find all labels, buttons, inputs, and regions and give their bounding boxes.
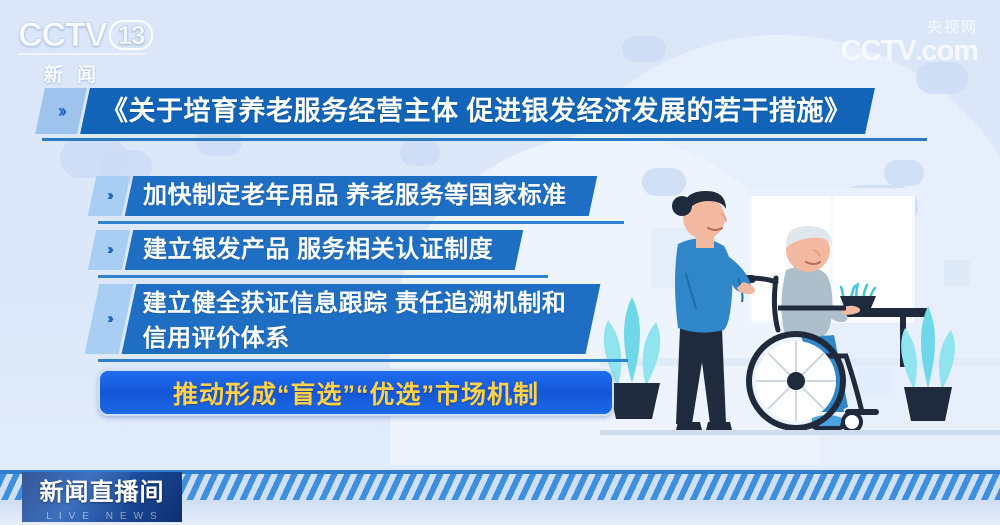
- highlighted-measure-label: 推动形成“盲选”“优选”市场机制: [173, 375, 539, 411]
- chevron-right-icon: ››: [88, 230, 131, 270]
- highlighted-measure[interactable]: 推动形成“盲选”“优选”市场机制: [98, 369, 614, 416]
- cloud-icon: [622, 36, 666, 62]
- broadcast-frame: CCTV13 新闻 央视网 CCTV.com ›› 《关于培育养老服务经营主体 …: [0, 0, 1000, 525]
- item-label-line1: 建立健全获证信息跟踪 责任追溯机制和: [143, 286, 567, 321]
- item-label: 加快制定老年用品 养老服务等国家标准: [143, 176, 567, 216]
- item-underline: [98, 275, 548, 278]
- item-bar: 加快制定老年用品 养老服务等国家标准: [125, 176, 597, 216]
- list-item[interactable]: ›› 加快制定老年用品 养老服务等国家标准: [92, 176, 593, 216]
- cctv-logo-subtitle: 新闻: [18, 60, 168, 87]
- cctv-com-watermark: 央视网 CCTV.com: [841, 20, 978, 66]
- item-bar: 建立银发产品 服务相关认证制度: [125, 230, 524, 270]
- chevron-right-icon: ››: [35, 88, 87, 134]
- program-title-en: LIVE NEWS: [22, 511, 182, 522]
- item-label: 建立银发产品 服务相关认证制度: [143, 230, 493, 270]
- measures-list: ›› 加快制定老年用品 养老服务等国家标准 ›› 建立银发产品 服务相关认证制度…: [92, 176, 593, 363]
- cctv-channel-number: 13: [109, 20, 154, 50]
- elderly-care-illustration: [600, 178, 1000, 478]
- item-label-line2: 信用评价体系: [143, 321, 567, 356]
- item-marker: ››: [107, 230, 111, 270]
- list-item[interactable]: ›› 建立银发产品 服务相关认证制度: [92, 230, 593, 270]
- cctv13-channel-logo: CCTV13 新闻: [18, 18, 168, 84]
- headline-marker: ››: [58, 88, 64, 134]
- watermark-suffix-text: com: [921, 35, 978, 67]
- item-marker: ››: [107, 176, 111, 216]
- item-bar: 建立健全获证信息跟踪 责任追溯机制和 信用评价体系: [122, 284, 601, 354]
- headline-banner: ›› 《关于培育养老服务经营主体 促进银发经济发展的若干措施》: [40, 88, 870, 134]
- headline-underline: [42, 138, 927, 141]
- page-title: 《关于培育养老服务经营主体 促进银发经济发展的若干措施》: [101, 88, 852, 134]
- list-item[interactable]: ›› 建立健全获证信息跟踪 责任追溯机制和 信用评价体系: [92, 284, 593, 354]
- headline-bar: 《关于培育养老服务经营主体 促进银发经济发展的若干措施》: [80, 88, 874, 134]
- watermark-main-text: CCTV: [841, 35, 916, 67]
- item-underline: [98, 221, 624, 224]
- bottom-bar: 新闻直播间 LIVE NEWS: [0, 470, 1000, 525]
- item-marker: ››: [107, 284, 111, 354]
- cloud-icon: [400, 140, 440, 166]
- chevron-right-icon: ››: [88, 176, 131, 216]
- item-underline: [98, 359, 628, 362]
- program-title-cn: 新闻直播间: [22, 481, 182, 505]
- cctv-logo-text: CCTV: [18, 16, 107, 54]
- watermark-cn-text: 央视网: [841, 20, 978, 35]
- live-news-badge: 新闻直播间 LIVE NEWS: [22, 472, 182, 522]
